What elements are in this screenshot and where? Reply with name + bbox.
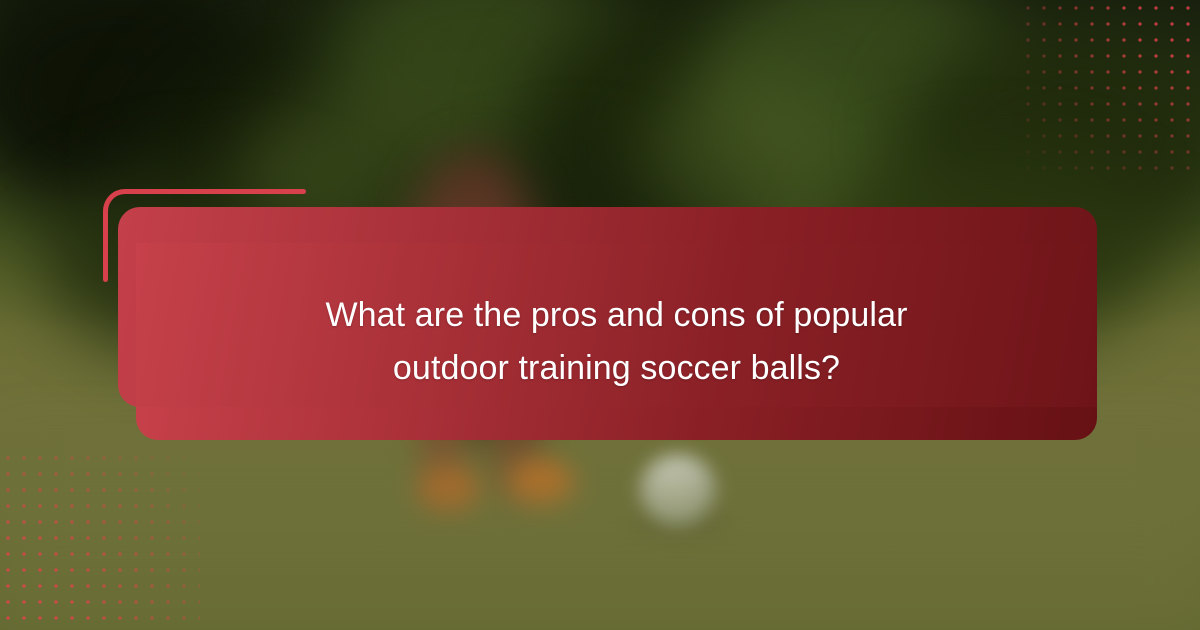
headline-line-2: outdoor training soccer balls? [393, 345, 840, 392]
question-headline: What are the pros and cons of popular ou… [136, 243, 1097, 440]
question-card-canvas: What are the pros and cons of popular ou… [0, 0, 1200, 630]
foliage-blob [640, 70, 840, 230]
grass-haze-overlay [0, 420, 1200, 630]
headline-line-1: What are the pros and cons of popular [325, 292, 907, 339]
